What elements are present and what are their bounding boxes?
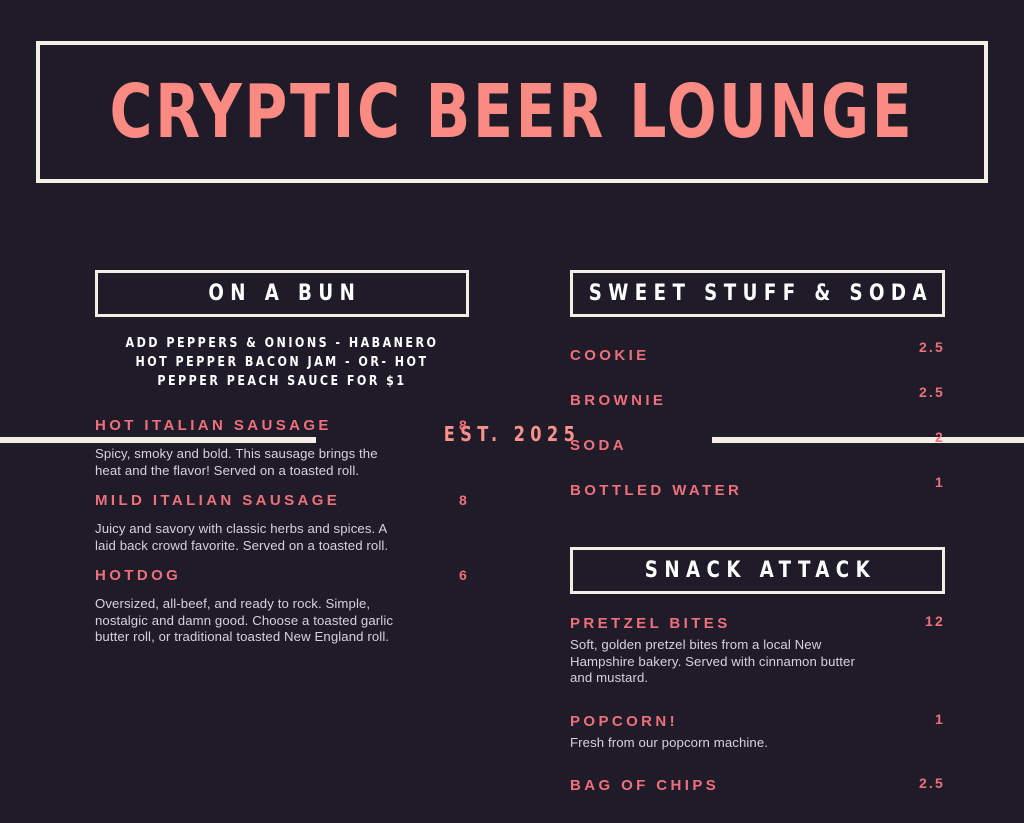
menu-item-name: HOTDOG <box>95 567 181 584</box>
page-title: CRYPTIC BEER LOUNGE <box>97 45 928 179</box>
addons-note-line-3: PEPPER PEACH SAUCE FOR $1 <box>104 372 459 391</box>
section-header-on-a-bun: ON A BUN <box>95 270 469 317</box>
section-header-sweet-stuff-and-soda: SWEET STUFF & SODA <box>570 270 945 317</box>
menu-item-name: POPCORN! <box>570 713 678 730</box>
menu-item-price: 2.5 <box>919 775 945 791</box>
menu-item-price: 12 <box>925 613 945 629</box>
menu-item-header: MILD ITALIAN SAUSAGE 8 <box>95 492 469 512</box>
menu-item-header: PRETZEL BITES 12 <box>570 615 945 635</box>
menu-item-price: 2.5 <box>919 339 945 355</box>
menu-item-header: BOTTLED WATER 1 <box>570 482 945 502</box>
menu-item: BAG OF CHIPS 2.5 <box>570 777 945 797</box>
addons-note-line-2: HOT PEPPER BACON JAM - OR- HOT <box>104 353 459 372</box>
menu-item-price: 2 <box>935 429 945 445</box>
menu-item-name: BOTTLED WATER <box>570 482 742 499</box>
menu-item: POPCORN! 1 Fresh from our popcorn machin… <box>570 713 945 752</box>
menu-item-description: Fresh from our popcorn machine. <box>570 735 860 752</box>
menu-item-header: HOT ITALIAN SAUSAGE 8 <box>95 417 469 437</box>
menu-item-description: Soft, golden pretzel bites from a local … <box>570 637 860 687</box>
menu-item-header: BAG OF CHIPS 2.5 <box>570 777 945 797</box>
menu-item-price: 8 <box>459 417 469 433</box>
menu-item-header: COOKIE 2.5 <box>570 347 945 367</box>
menu-item: COOKIE 2.5 <box>570 347 945 367</box>
addons-note: ADD PEPPERS & ONIONS - HABANERO HOT PEPP… <box>104 334 459 391</box>
menu-item-name: PRETZEL BITES <box>570 615 731 632</box>
section-spacer <box>570 527 945 547</box>
menu-item-price: 6 <box>459 567 469 583</box>
menu-item-list-sweet-stuff-and-soda: COOKIE 2.5 BROWNIE 2.5 SODA 2 BOTTLED WA… <box>570 347 945 502</box>
menu-item-name: MILD ITALIAN SAUSAGE <box>95 492 340 509</box>
menu-item-header: SODA 2 <box>570 437 945 457</box>
menu-item: SODA 2 <box>570 437 945 457</box>
menu-title-box: CRYPTIC BEER LOUNGE <box>36 41 988 183</box>
menu-item-header: POPCORN! 1 <box>570 713 945 733</box>
menu-item-name: BROWNIE <box>570 392 666 409</box>
menu-item: MILD ITALIAN SAUSAGE 8 Juicy and savory … <box>95 492 469 554</box>
menu-item: BOTTLED WATER 1 <box>570 482 945 502</box>
menu-item-description: Spicy, smoky and bold. This sausage brin… <box>95 446 395 479</box>
menu-item-header: BROWNIE 2.5 <box>570 392 945 412</box>
section-header-snack-attack: SNACK ATTACK <box>570 547 945 594</box>
section-title-snack-attack: SNACK ATTACK <box>639 558 877 583</box>
menu-item-price: 2.5 <box>919 384 945 400</box>
column-left: ON A BUN ADD PEPPERS & ONIONS - HABANERO… <box>95 270 469 659</box>
menu-item-list-on-a-bun: HOT ITALIAN SAUSAGE 8 Spicy, smoky and b… <box>95 417 469 646</box>
menu-item-header: HOTDOG 6 <box>95 567 469 587</box>
menu-item: HOTDOG 6 Oversized, all-beef, and ready … <box>95 567 469 646</box>
menu-item-price: 1 <box>935 711 945 727</box>
menu-item: HOT ITALIAN SAUSAGE 8 Spicy, smoky and b… <box>95 417 469 479</box>
menu-item-price: 8 <box>459 492 469 508</box>
menu-item-name: BAG OF CHIPS <box>570 777 719 794</box>
menu-item: BROWNIE 2.5 <box>570 392 945 412</box>
addons-note-line-1: ADD PEPPERS & ONIONS - HABANERO <box>104 334 459 353</box>
established-row: EST. 2025 <box>0 208 1024 256</box>
menu-item-name: HOT ITALIAN SAUSAGE <box>95 417 332 434</box>
section-title-sweet-stuff-and-soda: SWEET STUFF & SODA <box>582 281 933 306</box>
menu-item-name: COOKIE <box>570 347 650 364</box>
menu-item-description: Oversized, all-beef, and ready to rock. … <box>95 596 395 646</box>
menu-item-price: 1 <box>935 474 945 490</box>
menu-item-list-snack-attack: PRETZEL BITES 12 Soft, golden pretzel bi… <box>570 615 945 797</box>
column-right: SWEET STUFF & SODA COOKIE 2.5 BROWNIE 2.… <box>570 270 945 823</box>
section-title-on-a-bun: ON A BUN <box>202 281 361 306</box>
menu-item-description: Juicy and savory with classic herbs and … <box>95 521 395 554</box>
menu-item: PRETZEL BITES 12 Soft, golden pretzel bi… <box>570 615 945 687</box>
menu-item-name: SODA <box>570 437 627 454</box>
